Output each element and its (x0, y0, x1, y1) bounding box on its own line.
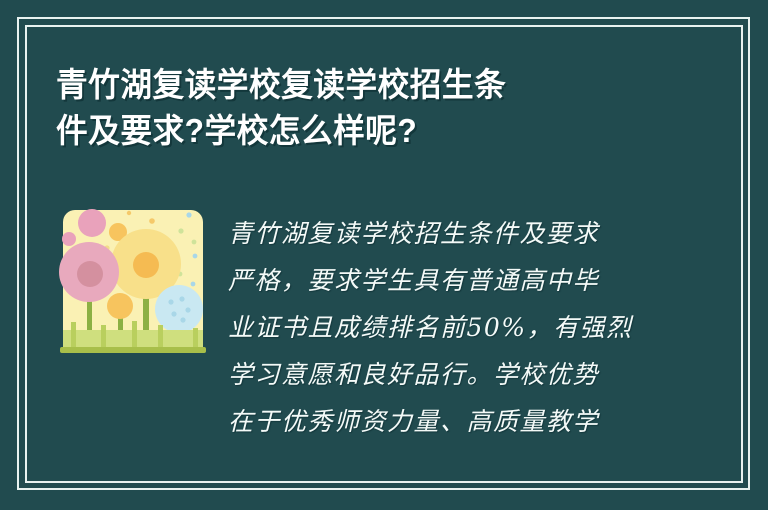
grass-blade (158, 325, 163, 350)
blue-flower-dot (179, 296, 184, 301)
page-title-line-1: 青竹湖复读学校复读学校招生条 (56, 62, 642, 108)
body-line-5: 在于优秀师资力量、高质量教学 (228, 398, 668, 445)
body-line-2: 严格，要求学生具有普通高中毕 (228, 257, 668, 304)
blue-flower-dot (180, 317, 185, 322)
body-paragraph: 青竹湖复读学校招生条件及要求 严格，要求学生具有普通高中毕 业证书且成绩排名前5… (228, 210, 668, 445)
grass-blade (132, 321, 137, 350)
dot-accent (192, 240, 197, 245)
grass-blade (193, 328, 198, 350)
pink-bloom-top (78, 209, 106, 237)
pink-flower-center (77, 261, 103, 287)
dot-accent (193, 254, 198, 259)
blue-flower-dot (185, 307, 190, 312)
yellow-flower-center (133, 252, 159, 278)
body-line-3: 业证书且成绩排名前50%，有强烈 (228, 304, 668, 351)
dot-accent (191, 282, 196, 287)
dot-accent (178, 228, 183, 233)
grass-blade (71, 322, 76, 350)
blue-flower-dot (168, 299, 173, 304)
poster-canvas: 青竹湖复读学校复读学校招生条 件及要求?学校怎么样呢? (0, 0, 768, 510)
page-title: 青竹湖复读学校复读学校招生条 件及要求?学校怎么样呢? (56, 62, 666, 154)
flower-garden-illustration (57, 204, 209, 364)
blue-flower-dot (171, 311, 176, 316)
dot-accent (186, 212, 191, 217)
dot-accent (149, 218, 155, 224)
orange-flower-small (107, 293, 133, 319)
page-title-line-2: 件及要求?学校怎么样呢? (56, 108, 642, 154)
ground-bar (60, 347, 206, 353)
dot-accent (127, 211, 131, 215)
grass-blade (101, 325, 106, 350)
pink-bloom-small (62, 232, 76, 246)
body-line-1: 青竹湖复读学校招生条件及要求 (228, 210, 668, 257)
body-line-4: 学习意愿和良好品行。学校优势 (228, 351, 668, 398)
